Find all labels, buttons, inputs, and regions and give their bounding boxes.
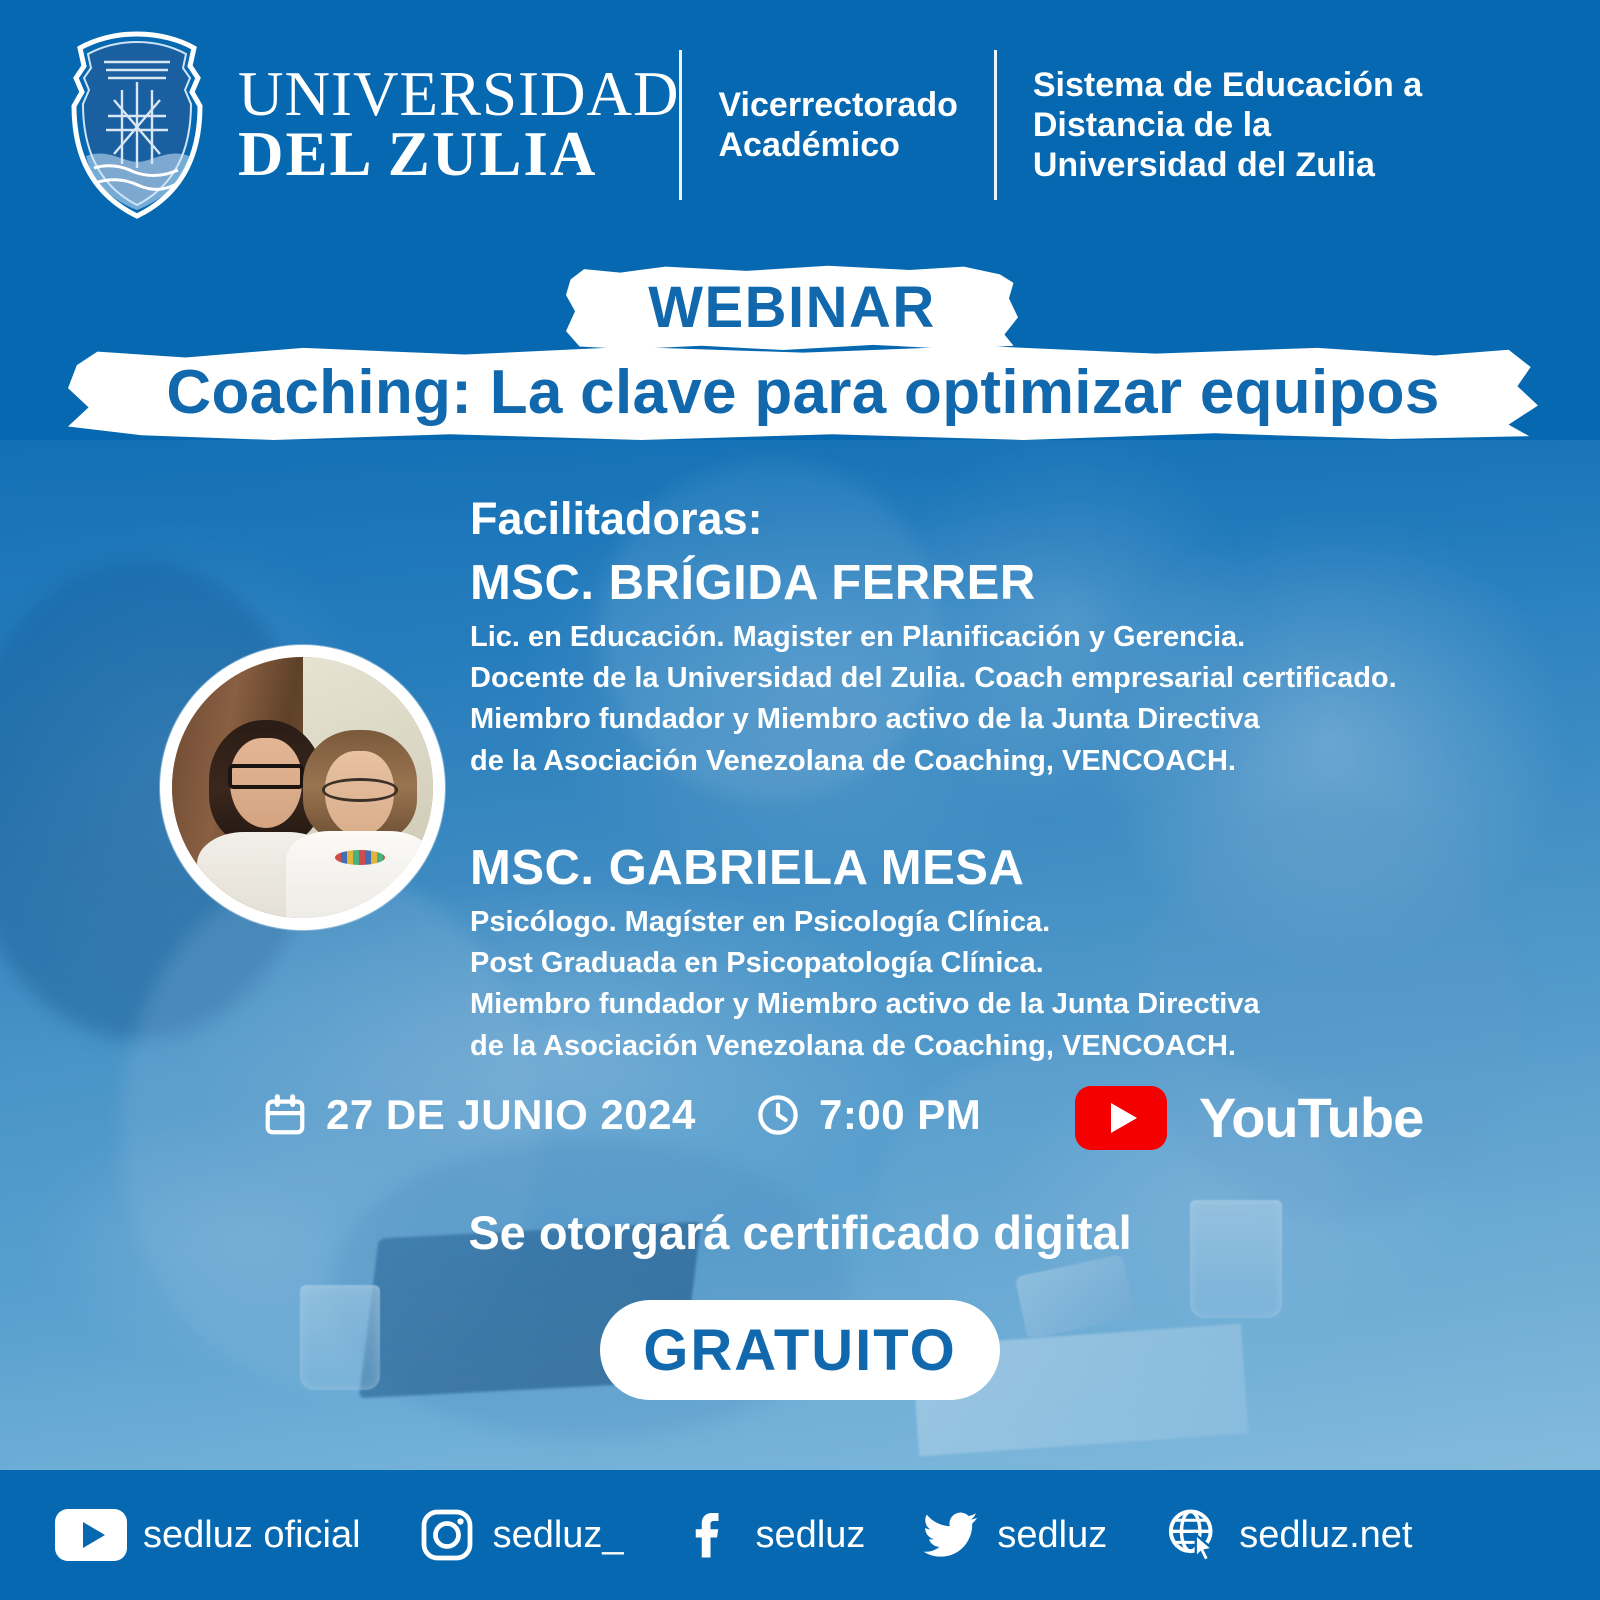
- header-divider-1: [679, 50, 682, 200]
- webinar-kicker: WEBINAR: [566, 264, 1018, 350]
- social-website[interactable]: sedluz.net: [1163, 1505, 1412, 1565]
- header-divider-2: [994, 50, 997, 200]
- university-wordmark: UNIVERSIDAD DEL ZULIA: [238, 65, 679, 185]
- certificate-note: Se otorgará certificado digital: [0, 1205, 1600, 1260]
- university-shield-icon: [62, 30, 212, 220]
- twitter-icon[interactable]: [921, 1505, 981, 1565]
- instagram-icon[interactable]: [417, 1505, 477, 1565]
- brand-lockup: UNIVERSIDAD DEL ZULIA: [0, 30, 679, 220]
- event-time: 7:00 PM: [755, 1091, 981, 1139]
- social-instagram[interactable]: sedluz_: [417, 1505, 624, 1565]
- social-footer: sedluz oficial sedluz_ sedluz sedluz: [0, 1470, 1600, 1600]
- facebook-icon[interactable]: [680, 1505, 740, 1565]
- facilitator-2-bio-line: Miembro fundador y Miembro activo de la …: [470, 984, 1260, 1025]
- social-handle: sedluz_: [493, 1514, 624, 1557]
- university-line-1: UNIVERSIDAD: [238, 65, 679, 125]
- youtube-play-triangle: [1111, 1103, 1137, 1133]
- facilitator-2-bio-line: Post Graduada en Psicopatología Clínica.: [470, 943, 1260, 984]
- social-handle: sedluz.net: [1239, 1514, 1412, 1557]
- facilitator-2-name: MSC. GABRIELA MESA: [470, 840, 1260, 896]
- vicerrectorado-label: Vicerrectorado Académico: [718, 85, 957, 165]
- event-date: 27 DE JUNIO 2024: [262, 1091, 696, 1139]
- clock-icon: [755, 1092, 801, 1138]
- globe-icon[interactable]: [1163, 1505, 1223, 1565]
- event-info-row: 27 DE JUNIO 2024 7:00 PM YouTube: [0, 1085, 1600, 1177]
- event-date-text: 27 DE JUNIO 2024: [326, 1091, 696, 1139]
- photo-person-right: [303, 730, 418, 918]
- event-platform[interactable]: YouTube: [1075, 1085, 1423, 1150]
- photo-person-right-body: [286, 831, 433, 919]
- webinar-title: Coaching: La clave para optimizar equipo…: [68, 344, 1538, 440]
- facilitators-photo-inner: [172, 657, 433, 918]
- facilitator-1-name: MSC. BRÍGIDA FERRER: [470, 555, 1397, 611]
- photo-person-left-glasses: [228, 764, 304, 788]
- facilitators-photo: [160, 645, 445, 930]
- social-youtube[interactable]: sedluz oficial: [55, 1509, 361, 1561]
- youtube-wordmark: YouTube: [1199, 1085, 1423, 1150]
- youtube-icon[interactable]: [1075, 1086, 1167, 1150]
- facilitator-2: MSC. GABRIELA MESA Psicólogo. Magíster e…: [470, 840, 1260, 1067]
- webinar-poster: UNIVERSIDAD DEL ZULIA Vicerrectorado Aca…: [0, 0, 1600, 1600]
- price-badge: GRATUITO: [600, 1300, 1000, 1400]
- event-time-text: 7:00 PM: [819, 1091, 981, 1139]
- social-twitter[interactable]: sedluz: [921, 1505, 1107, 1565]
- poster-header: UNIVERSIDAD DEL ZULIA Vicerrectorado Aca…: [0, 0, 1600, 250]
- youtube-play-triangle: [83, 1522, 105, 1548]
- social-facebook[interactable]: sedluz: [680, 1505, 866, 1565]
- facilitator-2-bio-line: de la Asociación Venezolana de Coaching,…: [470, 1026, 1260, 1067]
- social-handle: sedluz: [756, 1514, 866, 1557]
- poster-body: Facilitadoras: MSC. BRÍGIDA FERRER Lic. …: [0, 455, 1600, 1470]
- facilitator-2-bio-line: Psicólogo. Magíster en Psicología Clínic…: [470, 902, 1260, 943]
- facilitator-1: MSC. BRÍGIDA FERRER Lic. en Educación. M…: [470, 555, 1397, 782]
- social-handle: sedluz oficial: [143, 1514, 361, 1557]
- facilitator-1-bio-line: Miembro fundador y Miembro activo de la …: [470, 699, 1397, 740]
- facilitator-1-bio-line: Docente de la Universidad del Zulia. Coa…: [470, 658, 1397, 699]
- photo-person-right-glasses: [322, 778, 398, 801]
- facilitator-1-bio-line: Lic. en Educación. Magister en Planifica…: [470, 617, 1397, 658]
- youtube-icon[interactable]: [55, 1509, 127, 1561]
- title-block: WEBINAR Coaching: La clave para optimiza…: [0, 252, 1600, 452]
- sistema-educacion-label: Sistema de Educación a Distancia de la U…: [1033, 65, 1422, 185]
- social-handle: sedluz: [997, 1514, 1107, 1557]
- facilitators-label: Facilitadoras:: [470, 493, 763, 545]
- facilitator-1-bio-line: de la Asociación Venezolana de Coaching,…: [470, 741, 1397, 782]
- university-line-2: DEL ZULIA: [238, 125, 679, 185]
- calendar-icon: [262, 1092, 308, 1138]
